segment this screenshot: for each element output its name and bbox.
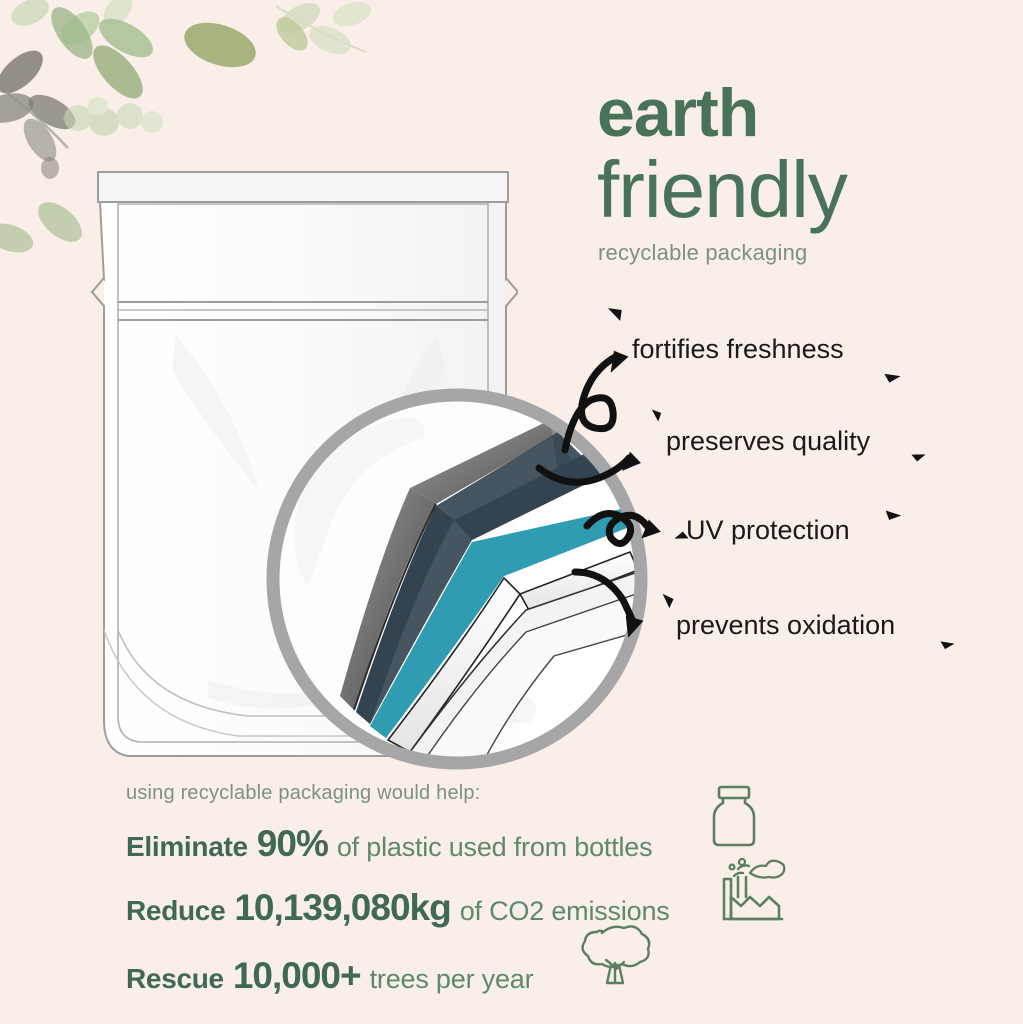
stat-number: 10,139,080kg [234,887,450,929]
spark-accent [940,636,954,649]
leaf-cluster-dark [0,43,81,179]
spark-accent [886,506,902,520]
feature-label-fortifies-freshness: fortifies freshness [632,334,844,365]
page-subtitle: recyclable packaging [598,240,807,266]
stat-number: 90% [257,823,328,865]
spark-accent [884,367,900,382]
feature-label-uv-protection: UV protection [686,515,850,546]
stat-verb: Rescue [126,963,224,995]
tree-icon [572,921,658,993]
leaf-cluster-top [7,0,262,107]
stat-verb: Reduce [126,895,225,927]
stat-number: 10,000+ [233,955,361,997]
feature-label-preserves-quality: preserves quality [666,426,870,457]
leaf-cluster-lower [0,195,89,258]
stat-tail: of plastic used from bottles [337,832,653,863]
leaf-cluster-right [275,0,374,59]
leaf-single [270,12,313,56]
tear-notch-right [506,278,518,306]
page-title-line2: friendly [597,150,847,230]
earth-friendly-packaging-infographic: earth friendly recyclable packaging fort… [0,0,1023,1024]
stat-verb: Eliminate [126,831,248,863]
tear-notch-left [92,278,104,306]
spark-accent [658,594,673,608]
stat-tail: trees per year [370,964,534,995]
stat-row: Rescue 10,000+ trees per year [126,955,846,997]
pouch-top-seal [98,172,508,202]
feature-label-prevents-oxidation: prevents oxidation [676,610,895,641]
factory-icon [716,857,788,923]
spark-accent [911,448,925,462]
layer-cross-section-magnifier [258,380,656,778]
page-title-line1: earth [597,79,758,147]
spark-accent [606,308,621,321]
bottle-icon [706,783,762,849]
leaf-stem-pale [62,97,163,136]
